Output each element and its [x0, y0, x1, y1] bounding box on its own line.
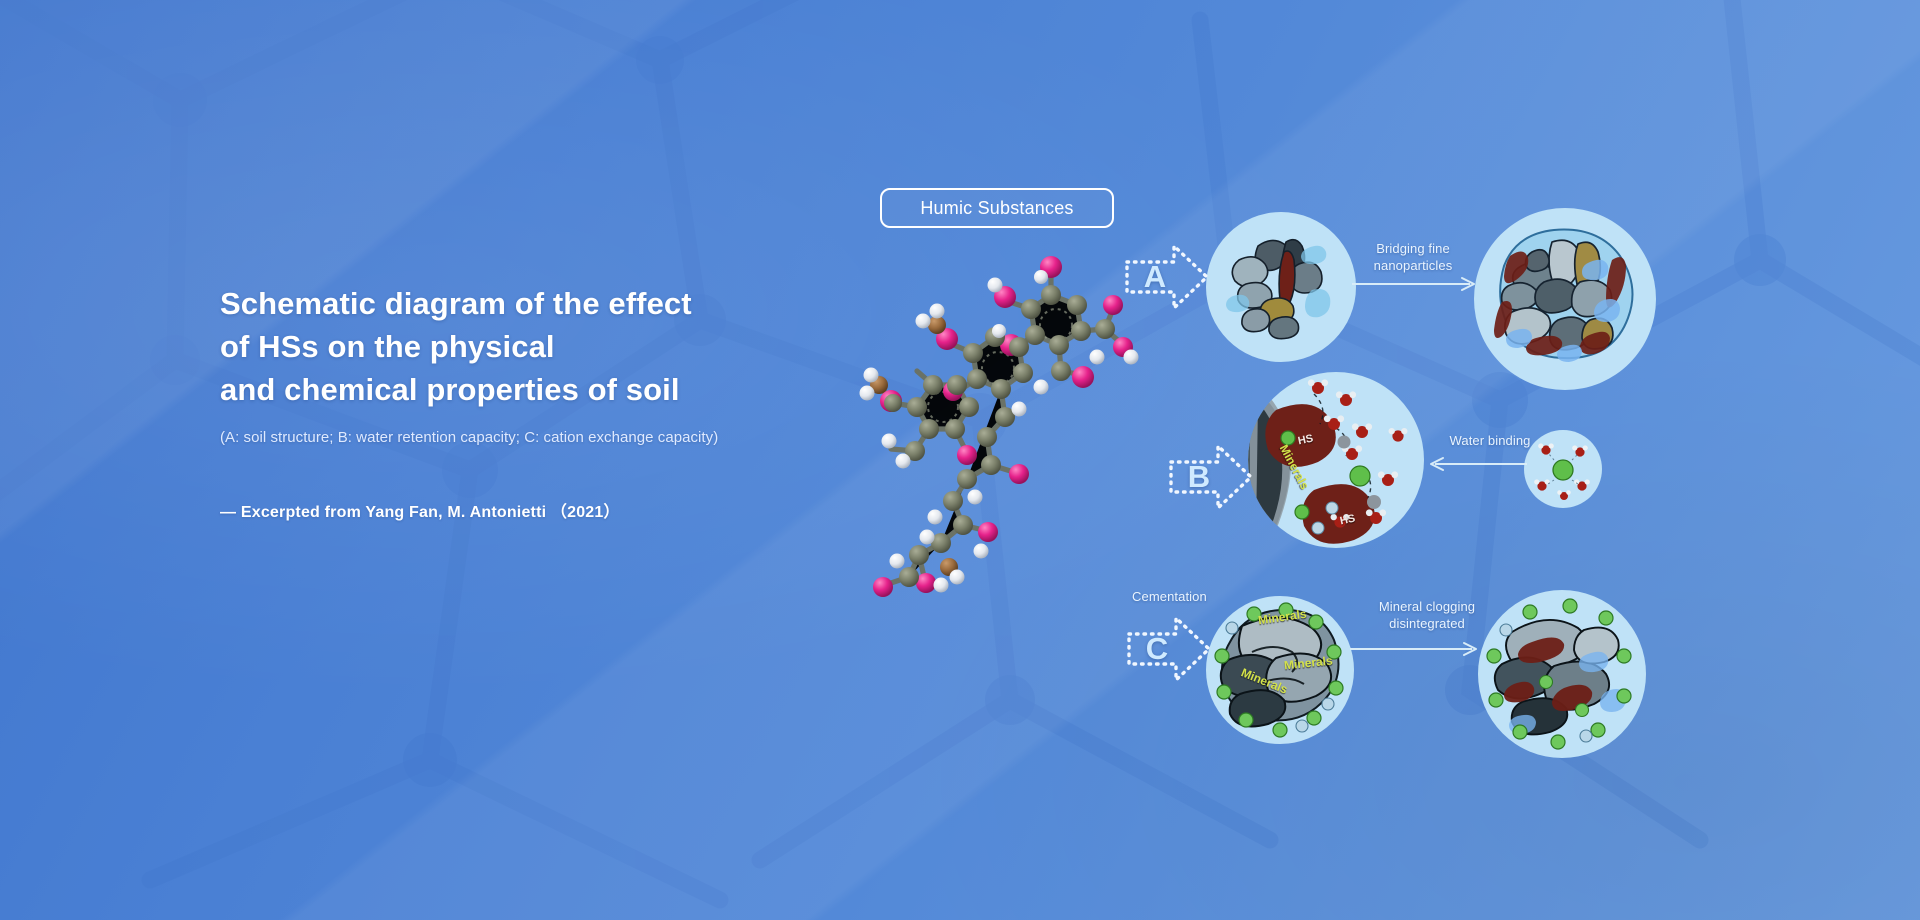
humic-substances-label: Humic Substances	[880, 188, 1114, 228]
panel-cation-exchange-before: Minerals Minerals Minerals	[1206, 596, 1354, 744]
source-attribution: — Excerpted from Yang Fan, M. Antonietti…	[220, 498, 840, 522]
branch-arrow-c: C	[1126, 612, 1212, 686]
humic-substances-label-text: Humic Substances	[920, 198, 1073, 219]
text-block: Schematic diagram of the effect of HSs o…	[220, 282, 840, 522]
poster-canvas: Schematic diagram of the effect of HSs o…	[0, 0, 1920, 920]
flow-arrow-b-left	[1425, 455, 1527, 473]
branch-letter-b: B	[1176, 459, 1222, 495]
panel-cation-exchange-after	[1478, 590, 1646, 758]
branch-arrow-a: A	[1124, 240, 1210, 314]
branch-letter-a: A	[1132, 259, 1178, 295]
flow-arrow-c-right	[1350, 640, 1482, 658]
branch-letter-c: C	[1134, 631, 1180, 667]
page-subtitle: (A: soil structure; B: water retention c…	[220, 427, 840, 448]
flow-label-water-binding: Water binding	[1420, 432, 1560, 449]
flow-label-cementation: Cementation	[1132, 588, 1242, 605]
flow-label-mineral-clogging-disintegrated: Mineral clogging disintegrated	[1352, 598, 1502, 632]
flow-arrow-a-right	[1352, 275, 1480, 293]
panel-soil-structure-before	[1206, 212, 1356, 362]
panel-soil-structure-after	[1474, 208, 1656, 390]
page-title: Schematic diagram of the effect of HSs o…	[220, 282, 840, 411]
flow-label-bridging-fine-nanoparticles: Bridging fine nanoparticles	[1348, 240, 1478, 274]
branch-arrow-b: B	[1168, 440, 1254, 514]
panel-water-retention-before: HS HS Minerals	[1248, 372, 1424, 548]
